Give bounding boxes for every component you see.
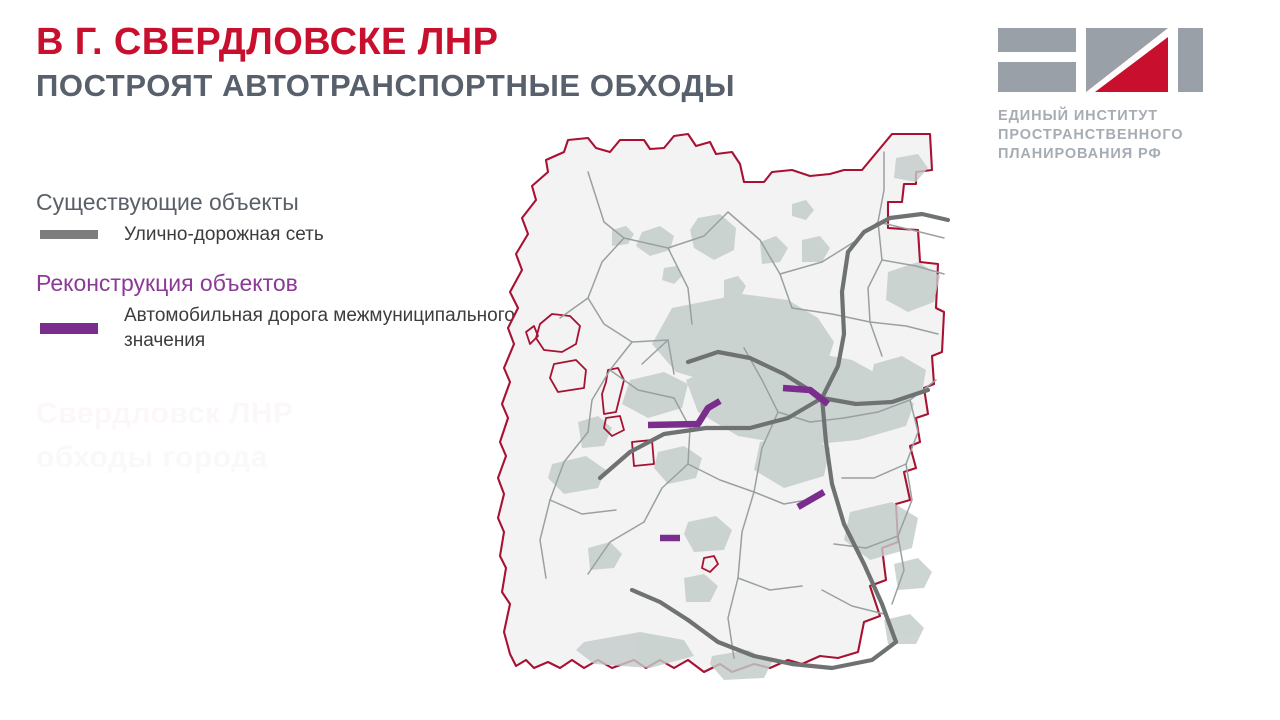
eipp-logo-icon bbox=[998, 26, 1203, 94]
legend-swatch-wrap bbox=[36, 230, 124, 239]
legend-item-intermunicipal-road: Автомобильная дорога межмуниципального з… bbox=[36, 304, 516, 353]
organization-logo-block: ЕДИНЫЙ ИНСТИТУТ ПРОСТРАНСТВЕННОГО ПЛАНИР… bbox=[998, 26, 1256, 164]
watermark-line-2: обходы города bbox=[36, 436, 486, 480]
legend-item-road-network: Улично-дорожная сеть bbox=[36, 223, 516, 247]
map-svg bbox=[492, 112, 978, 712]
road-line-swatch-icon bbox=[40, 230, 98, 239]
organization-name: ЕДИНЫЙ ИНСТИТУТ ПРОСТРАНСТВЕННОГО ПЛАНИР… bbox=[998, 107, 1256, 164]
legend-group-reconstruction: Реконструкция объектов Автомобильная дор… bbox=[36, 269, 516, 353]
faded-watermark-text: Свердловск ЛНР обходы города bbox=[36, 392, 486, 479]
organization-name-line-2: ПРОСТРАНСТВЕННОГО bbox=[998, 126, 1256, 145]
map-legend: Существующие объекты Улично-дорожная сет… bbox=[36, 188, 516, 375]
watermark-line-1: Свердловск ЛНР bbox=[36, 392, 486, 436]
organization-name-line-3: ПЛАНИРОВАНИЯ РФ bbox=[998, 145, 1256, 164]
title-block: В Г. СВЕРДЛОВСКЕ ЛНР ПОСТРОЯТ АВТОТРАНСП… bbox=[36, 22, 876, 104]
legend-label-road-network: Улично-дорожная сеть bbox=[124, 223, 324, 247]
legend-group-existing: Существующие объекты Улично-дорожная сет… bbox=[36, 188, 516, 247]
legend-heading-existing: Существующие объекты bbox=[36, 188, 516, 217]
legend-swatch-wrap bbox=[36, 323, 124, 334]
infographic-slide: В Г. СВЕРДЛОВСКЕ ЛНР ПОСТРОЯТ АВТОТРАНСП… bbox=[0, 0, 1280, 720]
page-title-primary: В Г. СВЕРДЛОВСКЕ ЛНР bbox=[36, 22, 876, 63]
page-title-secondary: ПОСТРОЯТ АВТОТРАНСПОРТНЫЕ ОБХОДЫ bbox=[36, 67, 826, 104]
district-map bbox=[492, 112, 978, 712]
legend-label-intermunicipal-road: Автомобильная дорога межмуниципального з… bbox=[124, 304, 516, 353]
legend-heading-reconstruction: Реконструкция объектов bbox=[36, 269, 516, 298]
organization-name-line-1: ЕДИНЫЙ ИНСТИТУТ bbox=[998, 107, 1256, 126]
reconstruction-line-swatch-icon bbox=[40, 323, 98, 334]
